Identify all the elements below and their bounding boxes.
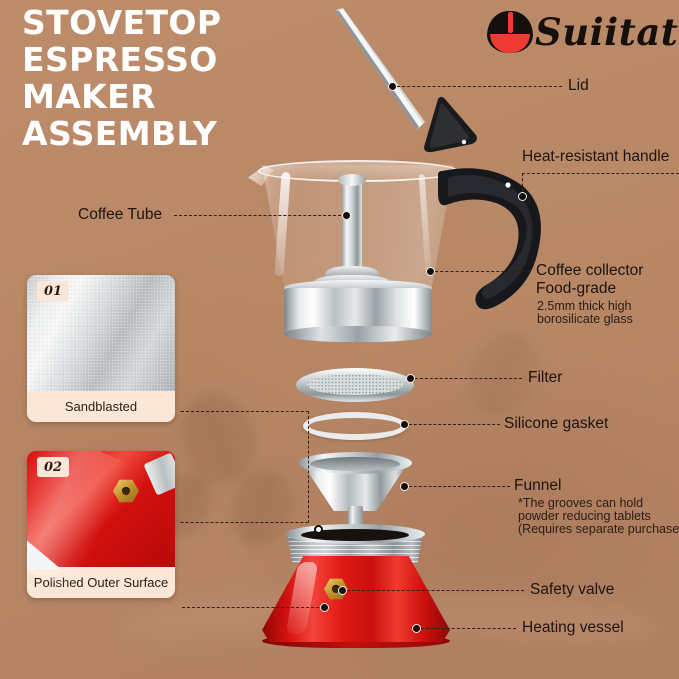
anchor-card-02 [320, 603, 329, 612]
label-heat-resistant-handle: Heat-resistant handle [522, 148, 669, 166]
swatch-safety-valve-icon [113, 479, 139, 503]
note-funnel-line-3: (Requires separate purchase) [518, 522, 679, 537]
lid-knob-icon [418, 95, 480, 153]
label-lid: Lid [568, 77, 589, 95]
anchor-filter [406, 374, 415, 383]
label-coffee-tube: Coffee Tube [78, 206, 162, 224]
leader-safety-valve [342, 590, 524, 591]
label-silicone-gasket: Silicone gasket [504, 415, 608, 433]
anchor-funnel [400, 482, 409, 491]
leader-coffee-collector [430, 271, 530, 272]
anchor-lid [388, 82, 397, 91]
leader-card-02 [182, 607, 324, 608]
swatch-card-01: 01 Sandblasted [27, 275, 175, 422]
filter-part [296, 368, 414, 402]
polished-surface-swatch: 02 [27, 451, 175, 567]
glass-carafe [262, 160, 454, 300]
card-badge-01: 01 [37, 281, 69, 301]
leader-lid [392, 86, 562, 87]
coffee-tube-part [342, 180, 362, 276]
anchor-coffee-tube [342, 211, 351, 220]
label-coffee-collector: Coffee collector [536, 262, 643, 280]
leader-card-01 [180, 411, 309, 523]
card-caption-01: Sandblasted [27, 391, 175, 422]
sandblasted-swatch: 01 [27, 275, 175, 391]
swatch-card-02: 02 Polished Outer Surface [27, 451, 175, 598]
leader-heating-vessel [416, 628, 516, 629]
anchor-coffee-collector [426, 267, 435, 276]
leader-handle [522, 173, 679, 174]
heating-vessel-part [262, 556, 450, 648]
label-filter: Filter [528, 369, 562, 387]
label-funnel: Funnel [514, 477, 561, 495]
anchor-heating-vessel [412, 624, 421, 633]
leader-coffee-tube [174, 215, 346, 216]
leader-funnel [404, 486, 510, 487]
label-heating-vessel: Heating vessel [522, 619, 624, 637]
anchor-card-01 [314, 525, 323, 534]
anchor-safety-valve [338, 586, 347, 595]
heat-resistant-handle-part [438, 165, 548, 315]
anchor-silicone-gasket [400, 420, 409, 429]
lid-rod-icon [333, 8, 429, 132]
label-food-grade: Food-grade [536, 280, 616, 298]
leader-silicone-gasket [404, 424, 500, 425]
leader-filter [410, 378, 522, 379]
infographic-canvas: Stovetop Espresso Maker Assembly Suiitat [0, 0, 679, 679]
note-glass-line-2: borosilicate glass [537, 312, 633, 327]
anchor-handle [518, 192, 527, 201]
label-safety-valve: Safety valve [530, 581, 614, 599]
silicone-gasket-part [303, 412, 407, 440]
card-badge-02: 02 [37, 457, 69, 477]
